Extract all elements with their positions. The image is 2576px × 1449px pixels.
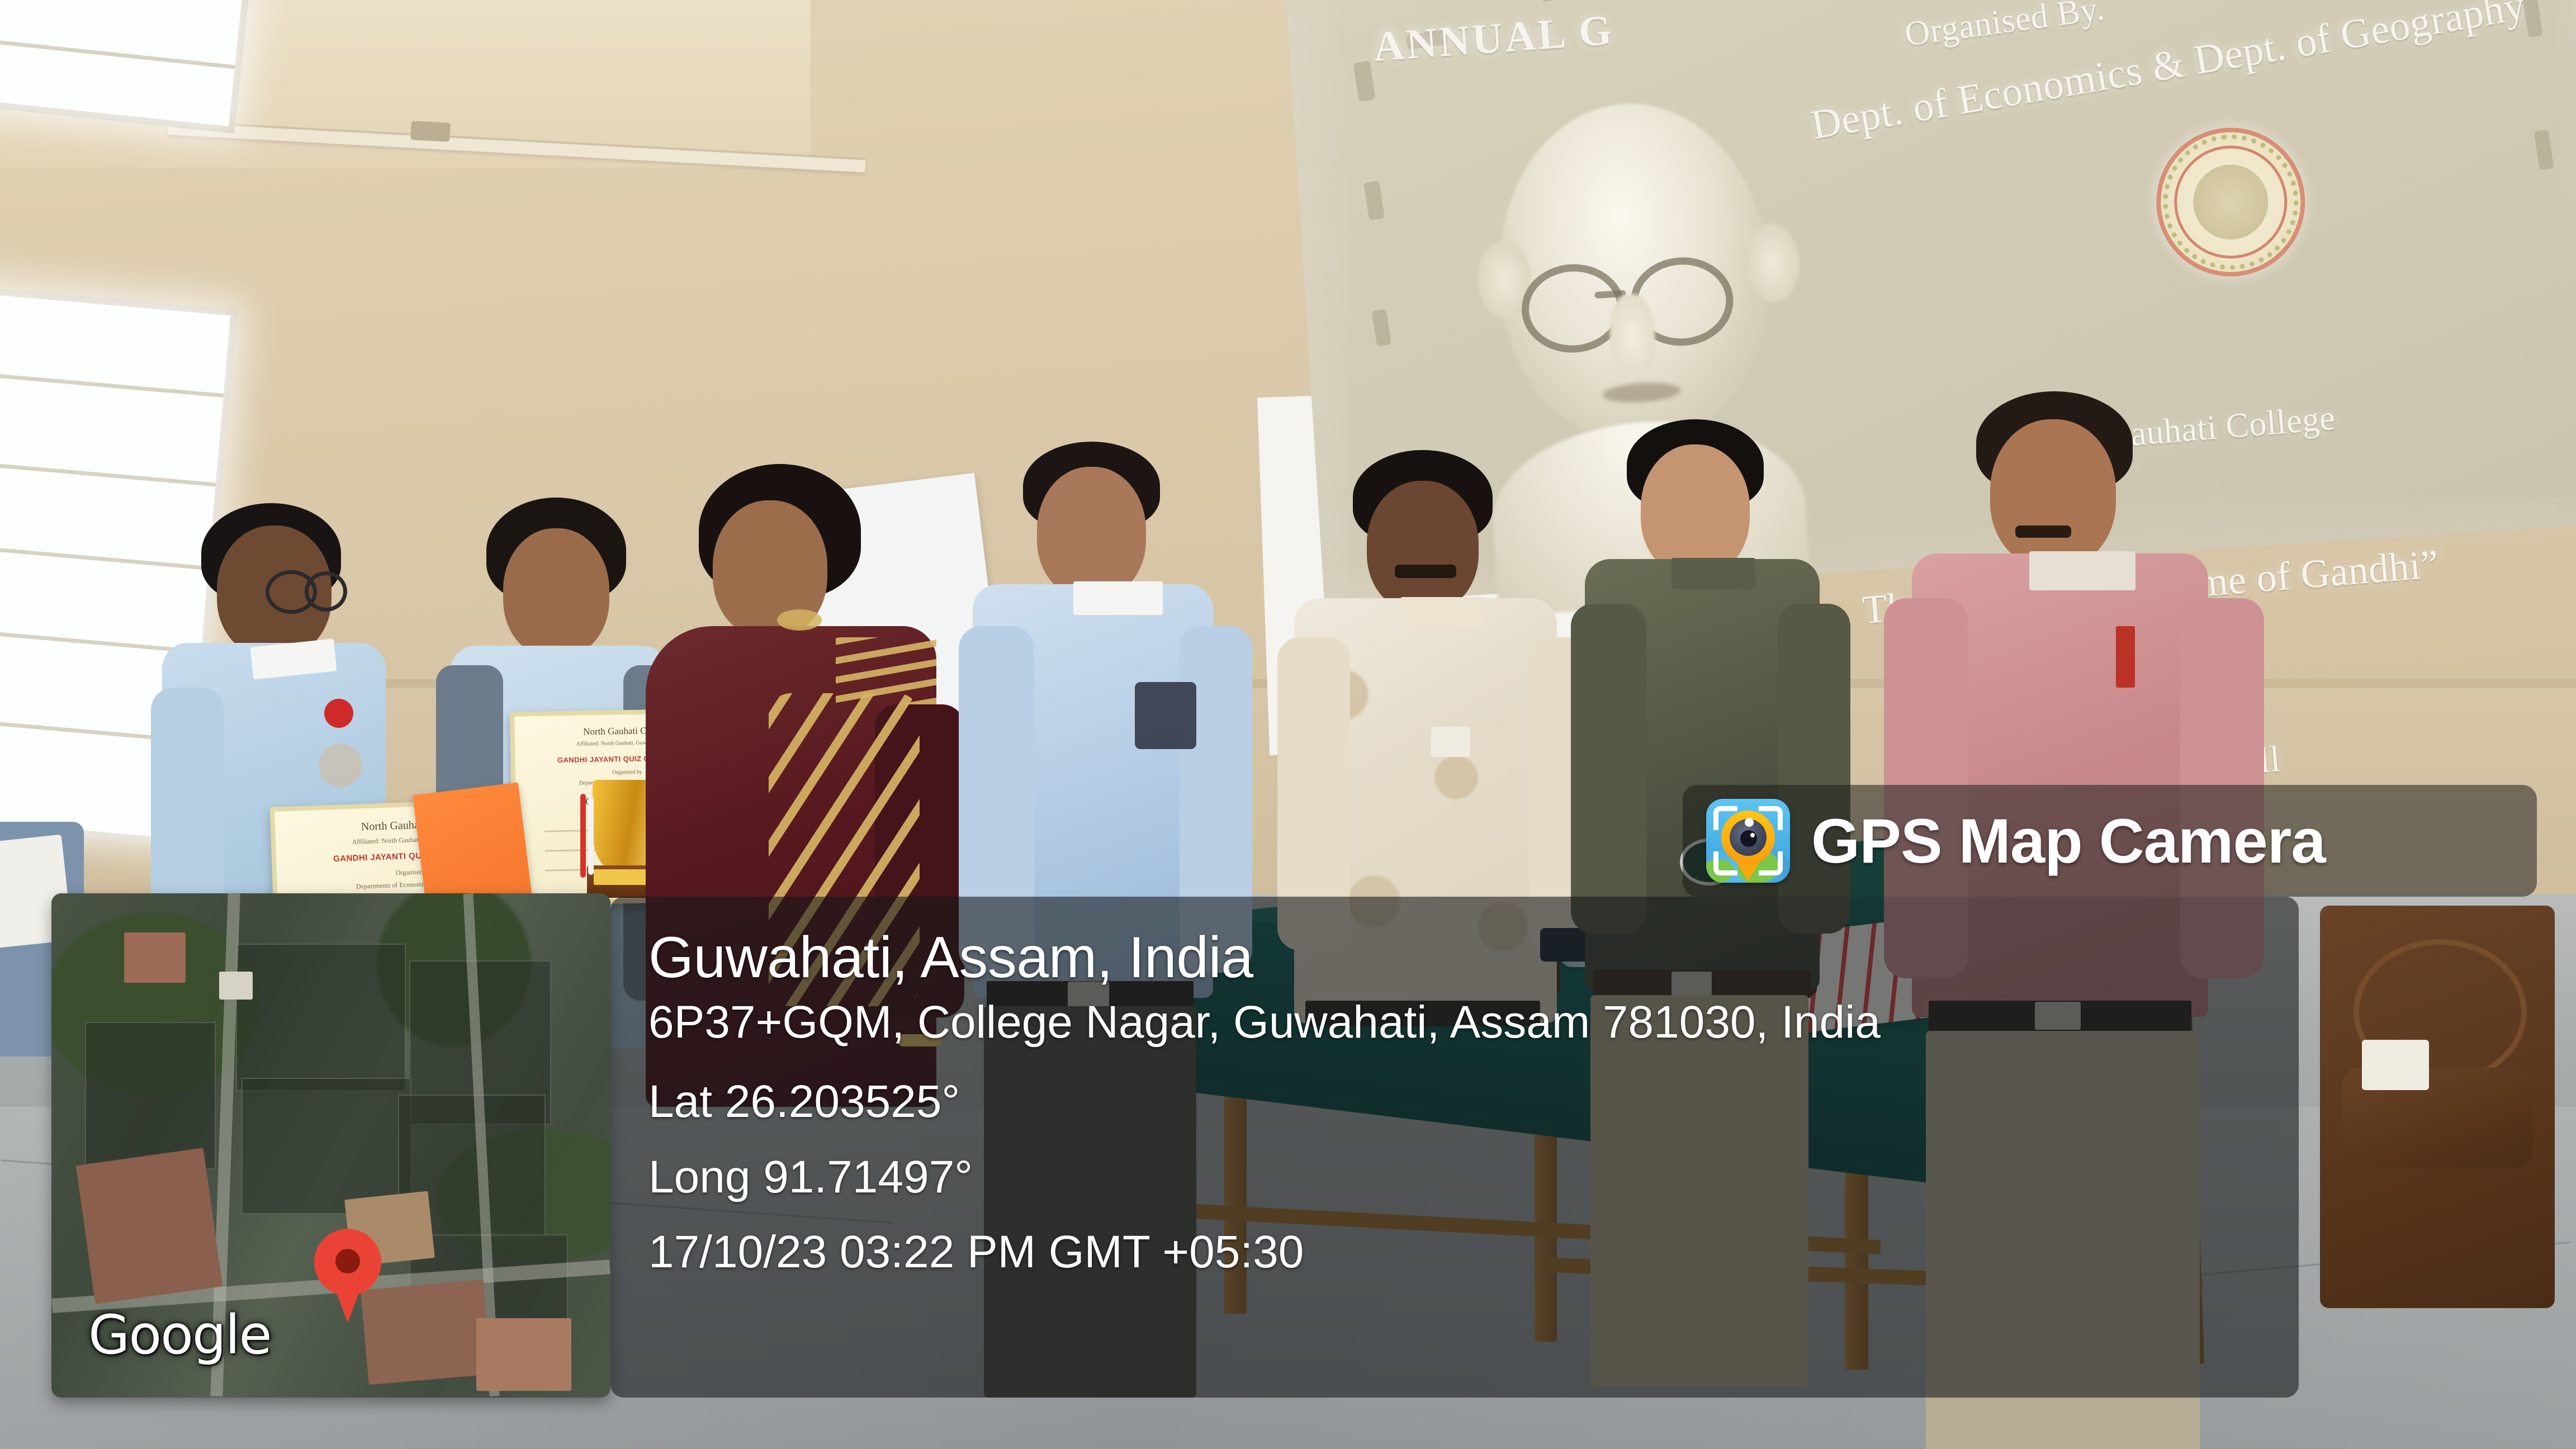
map-building	[76, 1148, 223, 1304]
google-wordmark: Google	[88, 1304, 271, 1366]
wall-socket	[2362, 1040, 2429, 1090]
map-parcel	[236, 944, 406, 1091]
college-emblem	[319, 744, 362, 787]
college-seal-icon	[2149, 121, 2312, 283]
gps-info-panel: Guwahati, Assam, India 6P37+GQM, College…	[610, 897, 2299, 1398]
college-badge	[324, 699, 353, 728]
map-building	[124, 932, 186, 983]
app-name-label: GPS Map Camera	[1811, 805, 2326, 877]
latitude-label: Lat 26.203525°	[648, 1077, 2299, 1127]
conduit-junction-box	[410, 121, 451, 142]
location-city-label: Guwahati, Assam, India	[648, 927, 2299, 988]
projection-organised-by: Organised By.	[1902, 0, 2107, 55]
bracket-bottom-left-icon	[1713, 851, 1737, 875]
light-switch	[1431, 727, 1470, 757]
eyeglasses-icon	[305, 571, 347, 612]
ribbon	[580, 794, 586, 878]
gps-map-camera-logo-icon	[1706, 799, 1790, 883]
moustache	[1395, 565, 1456, 578]
bracket-top-right-icon	[1759, 806, 1783, 830]
map-parcel	[85, 1022, 216, 1169]
map-parcel	[241, 1078, 411, 1214]
spectacles-in-pocket	[1135, 682, 1196, 749]
location-address-label: 6P37+GQM, College Nagar, Guwahati, Assam…	[648, 997, 2299, 1048]
longitude-label: Long 91.71497°	[648, 1152, 2299, 1202]
necklace	[777, 609, 822, 631]
gps-map-camera-watermark: GPS Map Camera	[1683, 785, 2537, 897]
projection-title: ANNUAL G	[1372, 6, 1616, 72]
map-location-pin-icon	[314, 1229, 381, 1296]
ribbon	[588, 797, 594, 875]
map-building	[219, 972, 253, 1000]
map-building	[476, 1318, 571, 1391]
bracket-top-left-icon	[1713, 806, 1737, 830]
timestamp-label: 17/10/23 03:22 PM GMT +05:30	[648, 1227, 2299, 1277]
screenshot-root: ANNUAL G Organised By. Dept. of Economic…	[0, 0, 2576, 1449]
moustache	[2015, 525, 2071, 538]
pen-in-pocket	[2116, 626, 2135, 688]
map-thumbnail[interactable]: Google	[51, 893, 610, 1398]
saree-pallu-border	[836, 637, 936, 704]
bracket-bottom-right-icon	[1759, 851, 1783, 875]
